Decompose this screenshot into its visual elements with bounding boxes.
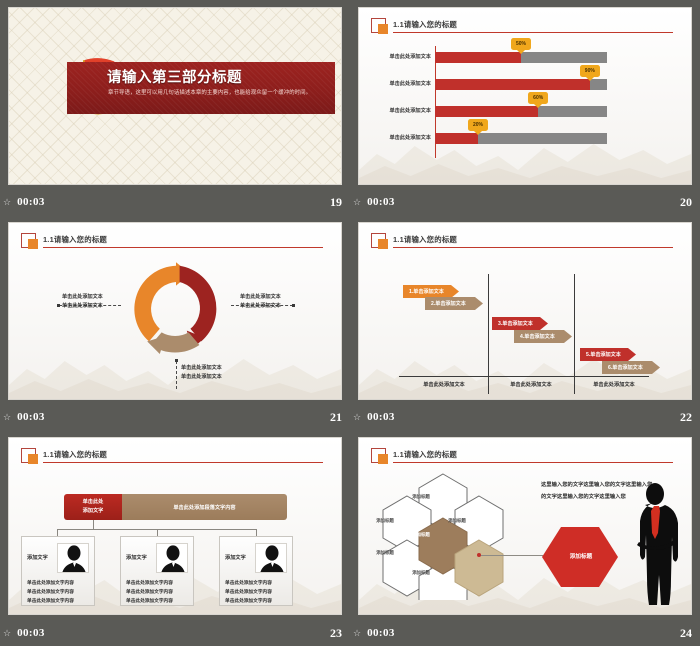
timeline-axis-label: 单击此处添加文本 — [489, 381, 573, 388]
org-card-role: 添加文字 — [27, 554, 48, 561]
callout-line: 单击此处添加文本 — [62, 293, 103, 302]
org-root-tag-line2: 添加文字 — [83, 507, 104, 516]
callout-line: 单击此处添加文本 — [240, 293, 281, 302]
timeline-arrow-2[interactable]: 2.单击添加文本 — [425, 297, 483, 310]
businessman-silhouette — [627, 482, 683, 608]
header-square-fill — [378, 239, 388, 249]
great-wall-watermark — [359, 120, 691, 184]
slide-number: 21 — [330, 410, 342, 425]
hex-label-upper-left: 添加标题 — [365, 518, 405, 524]
org-card-role: 添加文字 — [126, 554, 147, 561]
star-icon: ☆ — [3, 197, 11, 208]
timeline-axis-label: 单击此处添加文本 — [575, 381, 653, 388]
bar-category-label: 单击此处添加文本 — [389, 80, 431, 87]
chart-bar-row: 单击此处添加文本 50% — [435, 52, 607, 63]
avatar — [156, 543, 188, 573]
slide-header-title: 1.1请输入您的标题 — [393, 234, 457, 245]
header-square-fill — [378, 454, 388, 464]
header-divider — [43, 462, 323, 463]
slide-19[interactable]: 请输入第三部分标题 章节导语，这里可以用几句话描述本章的主要内容，也能给观众留一… — [8, 7, 342, 185]
section-title: 请输入第三部分标题 — [107, 66, 327, 87]
header-divider — [393, 462, 673, 463]
org-card-line: 单击此处添加文字内容 — [27, 588, 74, 597]
org-card-lines: 单击此处添加文字内容 单击此处添加文字内容 单击此处添加文字内容 — [27, 579, 74, 606]
star-icon: ☆ — [353, 197, 361, 208]
slide-number: 20 — [680, 195, 692, 210]
slide-header-title: 1.1请输入您的标题 — [43, 449, 107, 460]
slide-footer-22: ☆ 00:03 22 — [350, 404, 700, 430]
slide-21[interactable]: 1.1请输入您的标题 — [8, 222, 342, 400]
cycle-callout-bottom: 单击此处添加文本 单击此处添加文本 — [181, 364, 222, 382]
org-connector — [157, 529, 158, 536]
cycle-callout-right: 单击此处添加文本 单击此处添加文本 — [240, 293, 281, 311]
slide-number: 23 — [330, 626, 342, 641]
big-hexagon-label: 添加标题 — [555, 552, 607, 560]
slide-cell-23[interactable]: 1.1请输入您的标题 单击此处 添加文字 单击此处添加段落文字内容 添加文字 — [0, 430, 350, 646]
avatar — [255, 543, 287, 573]
slide-cell-20[interactable]: 1.1请输入您的标题 单击此处添加文本 50% 单击此处添加文本 90% 单击此… — [350, 0, 700, 215]
slide-cell-24[interactable]: 1.1请输入您的标题 添加标题 添加标题 添加标题 添加标题 添加标题 添加标题 — [350, 430, 700, 646]
timeline-arrow-1[interactable]: 1.单击添加文本 — [403, 285, 459, 298]
header-square-fill — [378, 24, 388, 34]
org-card-lines: 单击此处添加文字内容 单击此处添加文字内容 单击此处添加文字内容 — [126, 579, 173, 606]
org-card-lines: 单击此处添加文字内容 单击此处添加文字内容 单击此处添加文字内容 — [225, 579, 272, 606]
footer-time: 00:03 — [367, 627, 395, 639]
header-divider — [43, 247, 323, 248]
bar-value-bubble: 90% — [580, 65, 600, 77]
header-square-fill — [28, 239, 38, 249]
slide-header-title: 1.1请输入您的标题 — [43, 234, 107, 245]
callout-line: 单击此处添加文本 — [181, 373, 222, 382]
star-icon: ☆ — [353, 628, 361, 639]
star-icon: ☆ — [3, 628, 11, 639]
slide-20[interactable]: 1.1请输入您的标题 单击此处添加文本 50% 单击此处添加文本 90% 单击此… — [358, 7, 692, 185]
hex-label-center: 添加标题 — [401, 532, 441, 538]
slide-footer-23: ☆ 00:03 23 — [0, 620, 350, 646]
slide-header-title: 1.1请输入您的标题 — [393, 19, 457, 30]
hex-label-lower-left: 添加标题 — [365, 550, 405, 556]
org-card[interactable]: 添加文字 单击此处添加文字内容 单击此处添加文字内容 单击此处添加文字内容 — [21, 536, 95, 606]
bar-category-label: 单击此处添加文本 — [389, 107, 431, 114]
footer-time: 00:03 — [367, 196, 395, 208]
bar-fill — [435, 106, 538, 117]
slide-number: 24 — [680, 626, 692, 641]
section-subtitle: 章节导语，这里可以用几句话描述本章的主要内容，也能给观众留一个缓冲的时间。 — [108, 88, 318, 98]
chart-bar-row: 单击此处添加文本 90% — [435, 79, 607, 90]
connector-dot — [57, 304, 60, 307]
connector-dot — [175, 359, 178, 362]
slide-number: 22 — [680, 410, 692, 425]
bar-fill — [435, 79, 590, 90]
header-square-fill — [28, 454, 38, 464]
slide-footer-20: ☆ 00:03 20 — [350, 189, 700, 215]
org-card-role: 添加文字 — [225, 554, 246, 561]
star-icon: ☆ — [3, 412, 11, 423]
slide-header-title: 1.1请输入您的标题 — [393, 449, 457, 460]
org-card[interactable]: 添加文字 单击此处添加文字内容 单击此处添加文字内容 单击此处添加文字内容 — [120, 536, 194, 606]
timeline-axis-label: 单击此处添加文本 — [401, 381, 487, 388]
hex-label-upper-right: 添加标题 — [437, 518, 477, 524]
org-root-body: 单击此处添加段落文字内容 — [122, 494, 287, 520]
slide-cell-22[interactable]: 1.1请输入您的标题 1.单击添加文本 2.单击添加文本 3.单击添加文本 4.… — [350, 215, 700, 430]
org-root-tag[interactable]: 单击此处 添加文字 — [64, 494, 122, 520]
footer-time: 00:03 — [17, 411, 45, 423]
org-connector — [256, 529, 257, 536]
org-card-line: 单击此处添加文字内容 — [126, 588, 173, 597]
hex-connector-line — [479, 555, 543, 556]
bar-value-bubble: 60% — [528, 92, 548, 104]
bar-value-bubble: 20% — [468, 119, 488, 131]
slide-footer-19: ☆ 00:03 19 — [0, 189, 350, 215]
slide-thumbnail-grid: 请输入第三部分标题 章节导语，这里可以用几句话描述本章的主要内容，也能给观众留一… — [0, 0, 700, 646]
org-connector — [57, 529, 58, 536]
slide-cell-21[interactable]: 1.1请输入您的标题 — [0, 215, 350, 430]
org-root-tag-line1: 单击此处 — [83, 498, 104, 507]
slide-24[interactable]: 1.1请输入您的标题 添加标题 添加标题 添加标题 添加标题 添加标题 添加标题 — [358, 437, 692, 615]
slide-number: 19 — [330, 195, 342, 210]
slide-footer-24: ☆ 00:03 24 — [350, 620, 700, 646]
org-card-line: 单击此处添加文字内容 — [225, 579, 272, 588]
callout-connector-bottom — [176, 361, 177, 389]
org-card-line: 单击此处添加文字内容 — [225, 597, 272, 606]
callout-line: 单击此处添加文本 — [62, 302, 103, 311]
footer-time: 00:03 — [367, 411, 395, 423]
hex-label-top: 添加标题 — [401, 494, 441, 500]
bar-fill — [435, 52, 521, 63]
callout-line: 单击此处添加文本 — [240, 302, 281, 311]
hex-connector-dot — [477, 553, 481, 557]
avatar — [57, 543, 89, 573]
bar-category-label: 单击此处添加文本 — [389, 134, 431, 141]
org-card-line: 单击此处添加文字内容 — [225, 588, 272, 597]
timeline-arrow-6[interactable]: 6.单击添加文本 — [602, 361, 660, 374]
slide-23[interactable]: 1.1请输入您的标题 单击此处 添加文字 单击此处添加段落文字内容 添加文字 — [8, 437, 342, 615]
bar-fill — [435, 133, 478, 144]
footer-time: 00:03 — [17, 196, 45, 208]
org-card-line: 单击此处添加文字内容 — [27, 579, 74, 588]
header-divider — [393, 32, 673, 33]
star-icon: ☆ — [353, 412, 361, 423]
callout-line: 单击此处添加文本 — [181, 364, 222, 373]
org-connector — [93, 520, 94, 529]
org-card-line: 单击此处添加文字内容 — [126, 597, 173, 606]
slide-cell-19[interactable]: 请输入第三部分标题 章节导语，这里可以用几句话描述本章的主要内容，也能给观众留一… — [0, 0, 350, 215]
timeline-arrow-4[interactable]: 4.单击添加文本 — [514, 330, 572, 343]
hex-label-bottom: 添加标题 — [401, 570, 441, 576]
slide-footer-21: ☆ 00:03 21 — [0, 404, 350, 430]
org-card-line: 单击此处添加文字内容 — [126, 579, 173, 588]
chart-bar-row: 单击此处添加文本 60% — [435, 106, 607, 117]
chart-bar-row: 单击此处添加文本 20% — [435, 133, 607, 144]
timeline-baseline — [399, 376, 649, 377]
bar-category-label: 单击此处添加文本 — [389, 53, 431, 60]
footer-time: 00:03 — [17, 627, 45, 639]
cycle-diagram — [122, 255, 230, 363]
slide-22[interactable]: 1.1请输入您的标题 1.单击添加文本 2.单击添加文本 3.单击添加文本 4.… — [358, 222, 692, 400]
header-divider — [393, 247, 673, 248]
connector-dot — [292, 304, 295, 307]
bar-value-bubble: 50% — [511, 38, 531, 50]
cycle-callout-left: 单击此处添加文本 单击此处添加文本 — [62, 293, 103, 311]
timeline-arrow-3[interactable]: 3.单击添加文本 — [492, 317, 548, 330]
org-card[interactable]: 添加文字 单击此处添加文字内容 单击此处添加文字内容 单击此处添加文字内容 — [219, 536, 293, 606]
org-card-line: 单击此处添加文字内容 — [27, 597, 74, 606]
timeline-arrow-5[interactable]: 5.单击添加文本 — [580, 348, 636, 361]
